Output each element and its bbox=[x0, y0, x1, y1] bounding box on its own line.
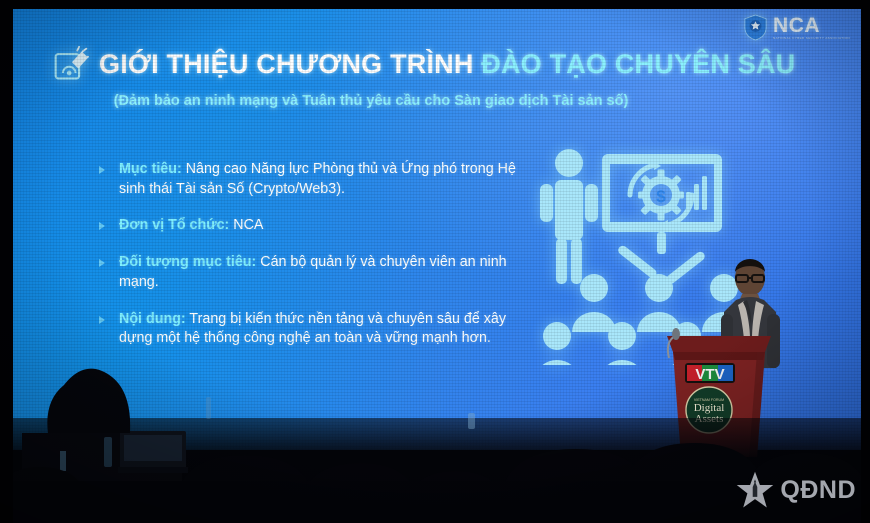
bullet-label: Đơn vị Tổ chức: bbox=[119, 217, 229, 233]
bullet-text: Đơn vị Tổ chức: NCA bbox=[119, 216, 263, 236]
bullet-text: Đối tượng mục tiêu: Cán bộ quản lý và ch… bbox=[119, 253, 519, 292]
shield-star-icon bbox=[743, 14, 768, 41]
nca-subtext: NATIONAL CYBER SECURITY ASSOCIATION bbox=[773, 37, 850, 40]
gear-dollar-chart-icon: $ bbox=[630, 162, 707, 228]
slide-title-row: GIỚI THIỆU CHƯƠNG TRÌNH ĐÀO TẠO CHUYÊN S… bbox=[53, 46, 795, 82]
svg-text:$: $ bbox=[656, 187, 666, 206]
bullet-body: NCA bbox=[229, 217, 263, 233]
bullet-list: Mục tiêu: Nâng cao Năng lực Phòng thủ và… bbox=[99, 160, 519, 366]
frame-edge-left bbox=[0, 0, 13, 523]
frame-edge-right bbox=[861, 0, 870, 523]
bullet-label: Mục tiêu: bbox=[119, 161, 182, 177]
triangle-bullet-icon bbox=[99, 222, 105, 230]
frame-edge-top bbox=[0, 0, 870, 9]
page-title: GIỚI THIỆU CHƯƠNG TRÌNH ĐÀO TẠO CHUYÊN S… bbox=[99, 49, 795, 80]
title-white-part: GIỚI THIỆU CHƯƠNG TRÌNH bbox=[99, 49, 474, 79]
triangle-bullet-icon bbox=[99, 166, 105, 174]
triangle-bullet-icon bbox=[99, 259, 105, 267]
bullet-label: Nội dung: bbox=[119, 311, 186, 327]
triangle-bullet-icon bbox=[99, 316, 105, 324]
list-item: Đối tượng mục tiêu: Cán bộ quản lý và ch… bbox=[99, 253, 519, 292]
slide-subtitle: (Đảm bảo an ninh mạng và Tuân thủ yêu cầ… bbox=[91, 93, 651, 109]
bullet-text: Mục tiêu: Nâng cao Năng lực Phòng thủ và… bbox=[119, 160, 519, 199]
list-item: Nội dung: Trang bị kiến thức nền tảng và… bbox=[99, 310, 519, 349]
title-cyan-part: ĐÀO TẠO CHUYÊN SÂU bbox=[481, 49, 795, 79]
presenter-figure bbox=[540, 149, 598, 284]
nca-logo: NCA NATIONAL CYBER SECURITY ASSOCIATION bbox=[743, 14, 850, 41]
qdnd-text: QĐND bbox=[780, 476, 856, 505]
announcement-icon bbox=[53, 46, 89, 82]
bullet-text: Nội dung: Trang bị kiến thức nền tảng và… bbox=[119, 310, 519, 349]
star-tower-icon bbox=[736, 471, 774, 509]
bullet-label: Đối tượng mục tiêu: bbox=[119, 254, 256, 270]
list-item: Mục tiêu: Nâng cao Năng lực Phòng thủ và… bbox=[99, 160, 519, 199]
qdnd-watermark: QĐND bbox=[736, 471, 856, 509]
list-item: Đơn vị Tổ chức: NCA bbox=[99, 216, 519, 236]
nca-wordmark: NCA bbox=[773, 15, 850, 36]
conference-photo: NCA NATIONAL CYBER SECURITY ASSOCIATION … bbox=[0, 0, 870, 523]
